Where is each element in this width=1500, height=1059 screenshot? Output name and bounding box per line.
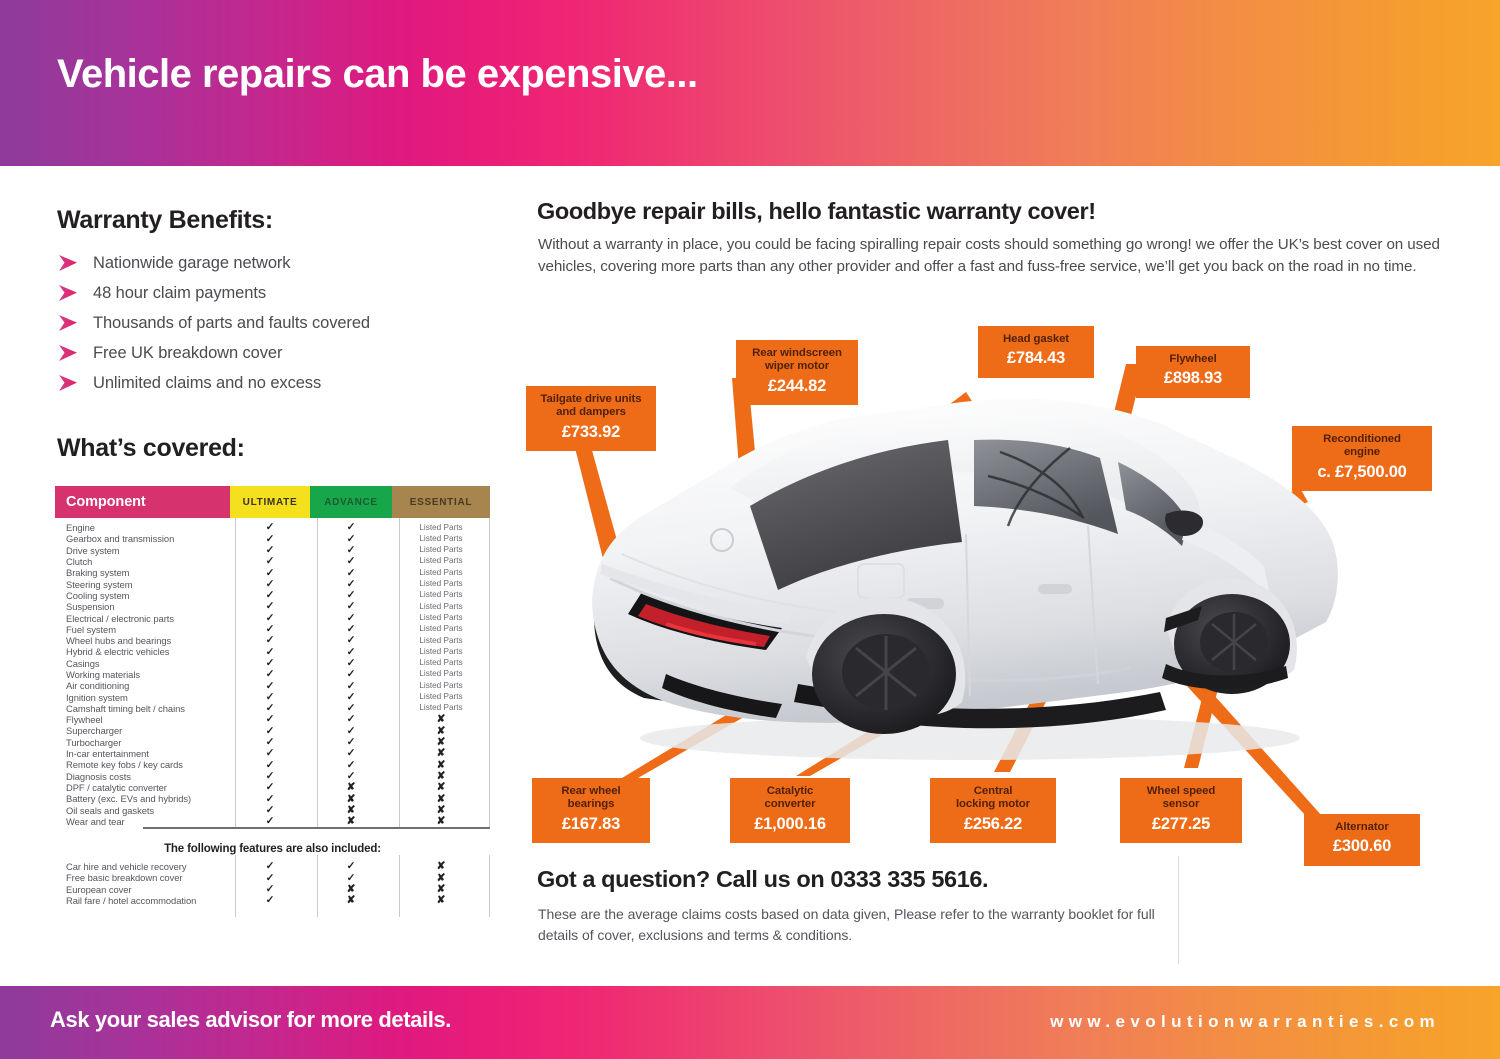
- cell-advance: ✓: [310, 522, 392, 533]
- table-row: Fuel system✓✓Listed Parts: [55, 624, 490, 635]
- cell-essential: Listed Parts: [392, 557, 490, 565]
- cell-ultimate: ✓: [230, 613, 310, 624]
- table-row: Turbocharger✓✓✘: [55, 737, 490, 748]
- section-divider: [143, 827, 490, 829]
- table-row: Free basic breakdown cover✓✓✘: [55, 872, 490, 883]
- cell-advance: ✓: [310, 545, 392, 556]
- table-row: Air conditioning✓✓Listed Parts: [55, 680, 490, 691]
- cell-ultimate: ✓: [230, 681, 310, 692]
- cell-essential: ✘: [392, 760, 490, 771]
- cell-essential: Listed Parts: [392, 648, 490, 656]
- right-column: Goodbye repair bills, hello fantastic wa…: [510, 166, 1500, 986]
- cell-essential: Listed Parts: [392, 580, 490, 588]
- column-header-advance: ADVANCE: [310, 486, 392, 518]
- table-row: Suspension✓✓Listed Parts: [55, 601, 490, 612]
- cell-essential: Listed Parts: [392, 704, 490, 712]
- table-row: Oil seals and gaskets✓✘✘: [55, 804, 490, 815]
- cell-advance: ✓: [310, 726, 392, 737]
- callout-label-line1: Head gasket: [988, 333, 1084, 346]
- column-header-essential: ESSENTIAL: [392, 486, 490, 518]
- cell-ultimate: ✓: [230, 884, 310, 895]
- chevron-right-icon: [57, 344, 83, 362]
- cell-component: Car hire and vehicle recovery: [55, 861, 230, 872]
- callout-label-line1: Tailgate drive units: [536, 393, 646, 406]
- cell-ultimate: ✓: [230, 590, 310, 601]
- cell-ultimate: ✓: [230, 545, 310, 556]
- table-row: Diagnosis costs✓✓✘: [55, 771, 490, 782]
- cell-advance: ✓: [310, 771, 392, 782]
- table-row: Electrical / electronic parts✓✓Listed Pa…: [55, 612, 490, 623]
- callout-alternator: Alternator £300.60: [1304, 814, 1420, 866]
- cell-ultimate: ✓: [230, 703, 310, 714]
- callout-label-line2: locking motor: [940, 798, 1046, 811]
- callout-tailgate-drive-units: Tailgate drive units and dampers £733.92: [526, 386, 656, 451]
- callout-label-line1: Alternator: [1314, 821, 1410, 834]
- also-included-title: The following features are also included…: [55, 843, 490, 855]
- table-header-row: Component ULTIMATE ADVANCE ESSENTIAL: [55, 486, 490, 518]
- cell-component: Turbocharger: [55, 737, 230, 748]
- callout-label-line2: wiper motor: [746, 360, 848, 373]
- callout-catalytic-converter: Catalytic converter £1,000.16: [730, 778, 850, 843]
- vehicle-cost-diagram: Tailgate drive units and dampers £733.92…: [510, 326, 1500, 846]
- chevron-right-icon: [57, 254, 83, 272]
- callout-value: £167.83: [542, 814, 640, 834]
- table-row: Car hire and vehicle recovery✓✓✘: [55, 861, 490, 872]
- cell-ultimate: ✓: [230, 647, 310, 658]
- cell-advance: ✘: [310, 816, 392, 827]
- cell-component: Clutch: [55, 556, 230, 567]
- vehicle-illustration: [570, 366, 1360, 796]
- cell-component: DPF / catalytic converter: [55, 782, 230, 793]
- cell-advance: ✘: [310, 895, 392, 906]
- warranty-benefits-list: Nationwide garage network 48 hour claim …: [57, 248, 487, 398]
- table-row: Camshaft timing belt / chains✓✓Listed Pa…: [55, 703, 490, 714]
- callout-head-gasket: Head gasket £784.43: [978, 326, 1094, 378]
- cell-essential: ✘: [392, 884, 490, 895]
- cell-advance: ✘: [310, 884, 392, 895]
- disclaimer-text: These are the average claims costs based…: [538, 904, 1198, 945]
- question-heading: Got a question? Call us on 0333 335 5616…: [537, 866, 988, 893]
- table-row: Cooling system✓✓Listed Parts: [55, 590, 490, 601]
- cell-essential: Listed Parts: [392, 637, 490, 645]
- cell-component: Working materials: [55, 669, 230, 680]
- cell-component: Free basic breakdown cover: [55, 872, 230, 883]
- cell-essential: ✘: [392, 861, 490, 872]
- table-rule-wrap: [55, 827, 490, 843]
- table-row: DPF / catalytic converter✓✘✘: [55, 782, 490, 793]
- cell-ultimate: ✓: [230, 726, 310, 737]
- cell-ultimate: ✓: [230, 737, 310, 748]
- cell-ultimate: ✓: [230, 794, 310, 805]
- cell-component: Steering system: [55, 579, 230, 590]
- cell-advance: ✓: [310, 647, 392, 658]
- list-item-label: Thousands of parts and faults covered: [93, 314, 370, 333]
- warranty-benefits-title: Warranty Benefits:: [57, 206, 273, 235]
- callout-rear-wheel-bearings: Rear wheel bearings £167.83: [532, 778, 650, 843]
- cell-advance: ✓: [310, 692, 392, 703]
- callout-label-line2: converter: [740, 798, 840, 811]
- cell-essential: ✘: [392, 816, 490, 827]
- table-row: Engine✓✓Listed Parts: [55, 522, 490, 533]
- cell-essential: ✘: [392, 714, 490, 725]
- coverage-table: Component ULTIMATE ADVANCE ESSENTIAL Eng…: [55, 486, 490, 906]
- callout-rear-windscreen-wiper-motor: Rear windscreen wiper motor £244.82: [736, 340, 858, 405]
- cell-essential: ✘: [392, 805, 490, 816]
- cell-component: Air conditioning: [55, 680, 230, 691]
- page-title: Vehicle repairs can be expensive...: [57, 52, 698, 97]
- cell-advance: ✓: [310, 579, 392, 590]
- callout-value: £784.43: [988, 348, 1084, 368]
- callout-label-line1: Rear windscreen: [746, 347, 848, 360]
- chevron-right-icon: [57, 284, 83, 302]
- left-column: Warranty Benefits: Nationwide garage net…: [0, 166, 510, 986]
- cell-ultimate: ✓: [230, 805, 310, 816]
- table-row: Flywheel✓✓✘: [55, 714, 490, 725]
- cell-component: Gearbox and transmission: [55, 533, 230, 544]
- callout-label-line1: Reconditioned: [1302, 433, 1422, 446]
- cell-essential: Listed Parts: [392, 682, 490, 690]
- cell-component: Oil seals and gaskets: [55, 805, 230, 816]
- list-item: 48 hour claim payments: [57, 278, 487, 308]
- callout-value: £244.82: [746, 376, 848, 396]
- cell-ultimate: ✓: [230, 522, 310, 533]
- cell-essential: Listed Parts: [392, 603, 490, 611]
- cell-ultimate: ✓: [230, 873, 310, 884]
- cell-advance: ✓: [310, 635, 392, 646]
- cell-ultimate: ✓: [230, 658, 310, 669]
- cell-ultimate: ✓: [230, 748, 310, 759]
- cell-ultimate: ✓: [230, 782, 310, 793]
- cell-component: Fuel system: [55, 624, 230, 635]
- callout-value: £300.60: [1314, 836, 1410, 856]
- cell-advance: ✓: [310, 681, 392, 692]
- cell-component: Supercharger: [55, 725, 230, 736]
- table-row: Battery (exc. EVs and hybrids)✓✘✘: [55, 793, 490, 804]
- cell-essential: Listed Parts: [392, 614, 490, 622]
- cell-advance: ✓: [310, 556, 392, 567]
- column-header-ultimate: ULTIMATE: [230, 486, 310, 518]
- cell-ultimate: ✓: [230, 816, 310, 827]
- cell-essential: ✘: [392, 895, 490, 906]
- cell-essential: ✘: [392, 782, 490, 793]
- cell-advance: ✓: [310, 658, 392, 669]
- cell-component: Diagnosis costs: [55, 771, 230, 782]
- whats-covered-title: What’s covered:: [57, 434, 245, 463]
- footer-website[interactable]: www.evolutionwarranties.com: [1050, 1012, 1440, 1032]
- cell-advance: ✓: [310, 703, 392, 714]
- chevron-right-icon: [57, 314, 83, 332]
- cell-essential: Listed Parts: [392, 524, 490, 532]
- callout-label-line2: and dampers: [536, 406, 646, 419]
- cell-essential: ✘: [392, 873, 490, 884]
- cell-advance: ✓: [310, 590, 392, 601]
- cell-ultimate: ✓: [230, 568, 310, 579]
- callout-label-line1: Catalytic: [740, 785, 840, 798]
- cell-advance: ✓: [310, 613, 392, 624]
- cell-advance: ✓: [310, 737, 392, 748]
- list-item-label: 48 hour claim payments: [93, 284, 266, 303]
- table-row: Remote key fobs / key cards✓✓✘: [55, 759, 490, 770]
- cell-advance: ✓: [310, 669, 392, 680]
- cell-ultimate: ✓: [230, 579, 310, 590]
- callout-label-line2: sensor: [1130, 798, 1232, 811]
- cell-component: Remote key fobs / key cards: [55, 759, 230, 770]
- cell-essential: ✘: [392, 771, 490, 782]
- table-row: Wear and tear✓✘✘: [55, 816, 490, 827]
- cell-component: Wear and tear: [55, 816, 230, 827]
- cell-ultimate: ✓: [230, 861, 310, 872]
- list-item: Thousands of parts and faults covered: [57, 308, 487, 338]
- table-row: Clutch✓✓Listed Parts: [55, 556, 490, 567]
- table-row: Rail fare / hotel accommodation✓✘✘: [55, 895, 490, 906]
- table-row: Working materials✓✓Listed Parts: [55, 669, 490, 680]
- cell-component: Hybrid & electric vehicles: [55, 646, 230, 657]
- cell-advance: ✓: [310, 861, 392, 872]
- cell-component: Ignition system: [55, 692, 230, 703]
- cell-essential: Listed Parts: [392, 546, 490, 554]
- cell-component: European cover: [55, 884, 230, 895]
- cell-advance: ✓: [310, 760, 392, 771]
- cell-component: Suspension: [55, 601, 230, 612]
- callout-value: £898.93: [1146, 368, 1240, 388]
- table-row: Drive system✓✓Listed Parts: [55, 545, 490, 556]
- cell-essential: ✘: [392, 737, 490, 748]
- callout-value: c. £7,500.00: [1302, 462, 1422, 482]
- table-row: Steering system✓✓Listed Parts: [55, 578, 490, 589]
- table-row: European cover✓✘✘: [55, 884, 490, 895]
- cell-component: Engine: [55, 522, 230, 533]
- cell-advance: ✓: [310, 534, 392, 545]
- cell-essential: Listed Parts: [392, 670, 490, 678]
- table-row: Casings✓✓Listed Parts: [55, 658, 490, 669]
- cell-ultimate: ✓: [230, 760, 310, 771]
- page-footer: Ask your sales advisor for more details.…: [0, 986, 1500, 1059]
- callout-value: £256.22: [940, 814, 1046, 834]
- cell-ultimate: ✓: [230, 601, 310, 612]
- footer-cta: Ask your sales advisor for more details.: [50, 1007, 451, 1033]
- cell-essential: Listed Parts: [392, 535, 490, 543]
- right-paragraph: Without a warranty in place, you could b…: [538, 234, 1483, 277]
- cell-ultimate: ✓: [230, 635, 310, 646]
- cell-essential: ✘: [392, 726, 490, 737]
- cell-ultimate: ✓: [230, 714, 310, 725]
- table-body: Engine✓✓Listed PartsGearbox and transmis…: [55, 518, 490, 827]
- callout-label-line2: engine: [1302, 446, 1422, 459]
- cell-ultimate: ✓: [230, 771, 310, 782]
- cell-component: Rail fare / hotel accommodation: [55, 895, 230, 906]
- cell-component: Electrical / electronic parts: [55, 613, 230, 624]
- list-item: Free UK breakdown cover: [57, 338, 487, 368]
- column-header-component: Component: [55, 486, 230, 518]
- cell-advance: ✓: [310, 714, 392, 725]
- cell-advance: ✓: [310, 624, 392, 635]
- cell-essential: Listed Parts: [392, 659, 490, 667]
- cell-component: Braking system: [55, 567, 230, 578]
- table-row: Ignition system✓✓Listed Parts: [55, 691, 490, 702]
- cell-ultimate: ✓: [230, 624, 310, 635]
- cell-essential: Listed Parts: [392, 591, 490, 599]
- table-row: Wheel hubs and bearings✓✓Listed Parts: [55, 635, 490, 646]
- cell-essential: Listed Parts: [392, 625, 490, 633]
- list-item-label: Free UK breakdown cover: [93, 344, 282, 363]
- callout-label-line1: Rear wheel: [542, 785, 640, 798]
- callout-central-locking-motor: Central locking motor £256.22: [930, 778, 1056, 843]
- callout-label-line2: bearings: [542, 798, 640, 811]
- cell-component: Wheel hubs and bearings: [55, 635, 230, 646]
- cell-advance: ✓: [310, 873, 392, 884]
- cell-component: Camshaft timing belt / chains: [55, 703, 230, 714]
- callout-value: £277.25: [1130, 814, 1232, 834]
- callout-label-line1: Central: [940, 785, 1046, 798]
- cell-component: Flywheel: [55, 714, 230, 725]
- page-header: Vehicle repairs can be expensive...: [0, 0, 1500, 166]
- cell-component: In-car entertainment: [55, 748, 230, 759]
- list-item: Nationwide garage network: [57, 248, 487, 278]
- table-row: In-car entertainment✓✓✘: [55, 748, 490, 759]
- also-included-body: Car hire and vehicle recovery✓✓✘Free bas…: [55, 855, 490, 906]
- callout-wheel-speed-sensor: Wheel speed sensor £277.25: [1120, 778, 1242, 843]
- callout-value: £733.92: [536, 422, 646, 442]
- cell-ultimate: ✓: [230, 534, 310, 545]
- chevron-right-icon: [57, 374, 83, 392]
- cell-component: Drive system: [55, 545, 230, 556]
- table-row: Gearbox and transmission✓✓Listed Parts: [55, 533, 490, 544]
- cell-advance: ✓: [310, 748, 392, 759]
- cell-essential: Listed Parts: [392, 569, 490, 577]
- cell-advance: ✓: [310, 601, 392, 612]
- list-item-label: Unlimited claims and no excess: [93, 374, 321, 393]
- brochure-page: Vehicle repairs can be expensive... Warr…: [0, 0, 1500, 1059]
- cell-ultimate: ✓: [230, 669, 310, 680]
- list-item: Unlimited claims and no excess: [57, 368, 487, 398]
- table-row: Braking system✓✓Listed Parts: [55, 567, 490, 578]
- callout-flywheel: Flywheel £898.93: [1136, 346, 1250, 398]
- table-row: Hybrid & electric vehicles✓✓Listed Parts: [55, 646, 490, 657]
- cell-component: Casings: [55, 658, 230, 669]
- cell-advance: ✘: [310, 805, 392, 816]
- right-heading: Goodbye repair bills, hello fantastic wa…: [537, 198, 1096, 225]
- callout-label-line1: Wheel speed: [1130, 785, 1232, 798]
- cell-advance: ✘: [310, 794, 392, 805]
- table-row: Supercharger✓✓✘: [55, 725, 490, 736]
- cell-ultimate: ✓: [230, 556, 310, 567]
- cell-advance: ✓: [310, 568, 392, 579]
- cell-essential: ✘: [392, 794, 490, 805]
- callout-value: £1,000.16: [740, 814, 840, 834]
- cell-component: Battery (exc. EVs and hybrids): [55, 793, 230, 804]
- cell-advance: ✘: [310, 782, 392, 793]
- cell-essential: ✘: [392, 748, 490, 759]
- cell-ultimate: ✓: [230, 895, 310, 906]
- cell-essential: Listed Parts: [392, 693, 490, 701]
- list-item-label: Nationwide garage network: [93, 254, 290, 273]
- cell-ultimate: ✓: [230, 692, 310, 703]
- callout-label-line1: Flywheel: [1146, 353, 1240, 366]
- cell-component: Cooling system: [55, 590, 230, 601]
- callout-reconditioned-engine: Reconditioned engine c. £7,500.00: [1292, 426, 1432, 491]
